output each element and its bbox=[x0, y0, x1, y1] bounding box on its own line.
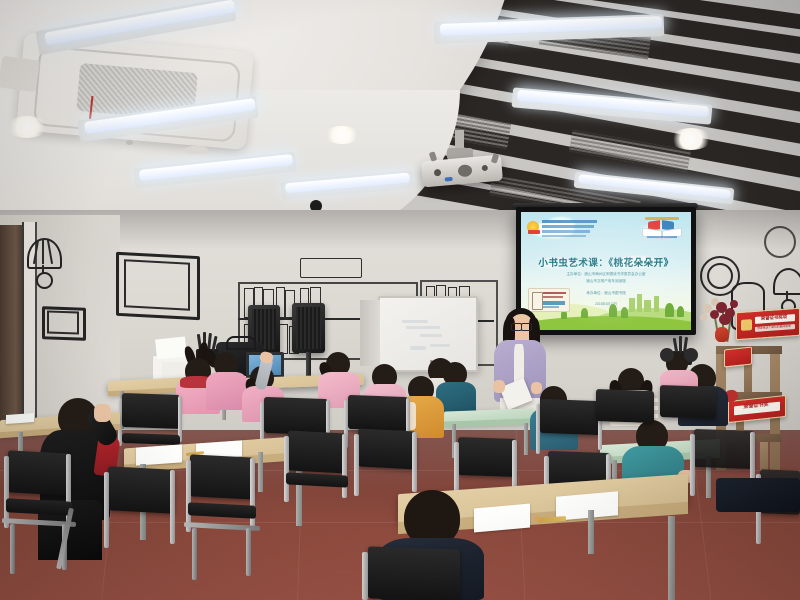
classroom-screenshot: 小书虫艺术课：《桃花朵朵开》 主办单位：嵩山市梅州区明德读书学委员会办公室 嵩山… bbox=[0, 0, 800, 600]
downlight-2 bbox=[324, 126, 360, 144]
chair-mid-6[interactable] bbox=[660, 385, 716, 419]
chair-mid-4[interactable] bbox=[540, 399, 600, 435]
chair-front-left-1[interactable] bbox=[8, 450, 70, 495]
pencil-tip bbox=[534, 516, 541, 522]
pa-speaker-right bbox=[292, 303, 325, 353]
downlight-3 bbox=[670, 128, 712, 150]
bag-handle bbox=[226, 336, 256, 350]
whiteboard[interactable] bbox=[378, 296, 478, 372]
whiteboard-side-panel bbox=[360, 300, 380, 366]
chair-right-1[interactable] bbox=[694, 429, 754, 469]
spiral-drawing-inner bbox=[707, 263, 733, 289]
chair-front-left-3[interactable] bbox=[190, 454, 254, 499]
red-sign-small bbox=[724, 347, 752, 368]
chair-mid-1[interactable] bbox=[122, 393, 180, 429]
ceiling-speaker bbox=[184, 146, 208, 154]
sprinkler-1 bbox=[126, 140, 133, 145]
paper-sheet-4 bbox=[474, 504, 530, 533]
dark-object-right bbox=[716, 478, 800, 512]
chair-mid-center-6[interactable] bbox=[458, 437, 516, 477]
teacher-glasses-right bbox=[521, 323, 532, 331]
slide-logo-bottom-left bbox=[528, 288, 570, 312]
chair-front-center[interactable] bbox=[368, 546, 460, 600]
projector-screen-slide: 小书虫艺术课：《桃花朵朵开》 主办单位：嵩山市梅州区明德读书学委员会办公室 嵩山… bbox=[521, 212, 691, 330]
chair-mid-left-4[interactable] bbox=[288, 430, 346, 473]
slide-organizer-line1: 主办单位：嵩山市梅州区明德读书学委员会办公室 bbox=[521, 272, 691, 277]
ceiling bbox=[0, 0, 800, 230]
wall-lamp-bulb-drawing bbox=[36, 272, 53, 289]
slide-logo-top-right bbox=[639, 216, 685, 240]
paper-sheet-2 bbox=[136, 444, 182, 465]
flower-vase bbox=[715, 327, 729, 342]
slide-organizer-line2: 嵩山市文明产电车阅读馆 bbox=[521, 279, 691, 284]
paper-label bbox=[162, 362, 186, 378]
circle-drawing-right bbox=[764, 226, 796, 258]
shelf-box-drawing bbox=[300, 258, 362, 278]
chair-mid-3[interactable] bbox=[348, 395, 408, 431]
student-front-left-raised-hand bbox=[94, 404, 111, 422]
headphone-left bbox=[660, 348, 674, 362]
paper-in-bin bbox=[155, 336, 187, 359]
downlight-1 bbox=[6, 116, 48, 138]
slide-title: 小书虫艺术课：《桃花朵朵开》 bbox=[521, 255, 691, 269]
chair-mid-left-5[interactable] bbox=[358, 428, 416, 469]
slide-logo-top-left bbox=[527, 219, 597, 237]
chair-front-left-2[interactable] bbox=[108, 466, 174, 513]
teacher-hand-right bbox=[531, 382, 542, 394]
chair-mid-2[interactable] bbox=[264, 397, 328, 435]
teacher-hand-left bbox=[493, 380, 505, 393]
headphone-right bbox=[684, 348, 698, 362]
ceiling-fixture-left bbox=[0, 56, 40, 93]
chair-mid-5[interactable] bbox=[596, 389, 654, 423]
